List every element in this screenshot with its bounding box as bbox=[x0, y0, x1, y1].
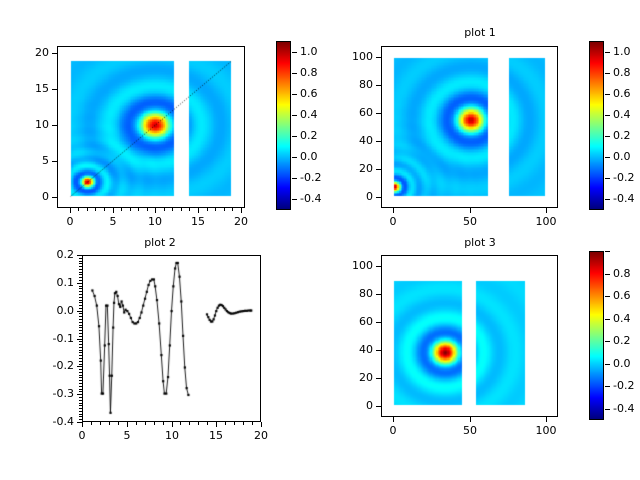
colorbar-tick bbox=[605, 199, 610, 200]
figure-canvas: 0510152005101520 1.00.80.60.40.20.0-0.2-… bbox=[0, 0, 640, 480]
y-tick-label: 40 bbox=[331, 343, 373, 356]
y-tick-label: 0 bbox=[331, 399, 373, 412]
tick-mark bbox=[180, 422, 181, 425]
panel-top-right-plotarea bbox=[382, 47, 557, 207]
y-tick-label: -0.3 bbox=[30, 387, 74, 400]
colorbar-tick bbox=[605, 296, 610, 297]
tick-mark bbox=[234, 422, 235, 425]
x-tick-label: 15 bbox=[178, 215, 218, 228]
tick-mark bbox=[393, 417, 394, 422]
panel-bottom-right-colorbar bbox=[589, 251, 604, 420]
tick-mark bbox=[216, 422, 217, 427]
tick-mark bbox=[79, 377, 82, 378]
colorbar-tick bbox=[605, 178, 610, 179]
tick-mark bbox=[52, 53, 57, 54]
tick-mark bbox=[79, 325, 82, 326]
panel-top-right-heatmap bbox=[382, 47, 557, 207]
tick-mark bbox=[79, 344, 82, 345]
colorbar-tick bbox=[292, 115, 297, 116]
tick-mark bbox=[376, 57, 381, 58]
colorbar-tick-label: 1.0 bbox=[613, 45, 631, 58]
x-tick-label: 5 bbox=[93, 215, 133, 228]
y-tick-label: 80 bbox=[331, 287, 373, 300]
tick-mark bbox=[79, 350, 82, 351]
y-tick-label: 5 bbox=[7, 154, 49, 167]
tick-mark bbox=[79, 411, 82, 412]
tick-mark bbox=[79, 302, 82, 303]
tick-mark bbox=[224, 208, 225, 211]
x-tick-label: 100 bbox=[526, 215, 566, 228]
x-tick-label: 20 bbox=[221, 215, 261, 228]
tick-mark bbox=[138, 208, 139, 211]
tick-mark bbox=[79, 403, 82, 404]
tick-mark bbox=[70, 208, 71, 213]
colorbar-tick bbox=[605, 136, 610, 137]
tick-mark bbox=[243, 422, 244, 425]
y-tick-label: 20 bbox=[331, 371, 373, 384]
tick-mark bbox=[87, 208, 88, 211]
panel-bottom-right-axes bbox=[381, 255, 558, 417]
panel-bottom-left-axes bbox=[82, 255, 261, 422]
tick-mark bbox=[77, 422, 82, 423]
tick-mark bbox=[95, 208, 96, 211]
tick-mark bbox=[79, 297, 82, 298]
colorbar-tick-label: 0.0 bbox=[613, 150, 631, 163]
colorbar-tick-label: 0.0 bbox=[613, 357, 631, 370]
tick-mark bbox=[52, 197, 57, 198]
tick-mark bbox=[189, 422, 190, 425]
colorbar-tick-label: -0.4 bbox=[300, 192, 321, 205]
tick-mark bbox=[79, 358, 82, 359]
tick-mark bbox=[52, 89, 57, 90]
panel-top-left: 0510152005101520 1.00.80.60.40.20.0-0.2-… bbox=[0, 0, 320, 240]
colorbar-tick-label: 0.8 bbox=[300, 66, 318, 79]
colorbar-tick-label: 1.0 bbox=[300, 45, 318, 58]
x-tick-label: 0 bbox=[373, 424, 413, 437]
y-tick-label: 100 bbox=[331, 259, 373, 272]
tick-mark bbox=[79, 386, 82, 387]
tick-mark bbox=[172, 208, 173, 211]
tick-mark bbox=[155, 208, 156, 213]
tick-mark bbox=[79, 258, 82, 259]
tick-mark bbox=[79, 280, 82, 281]
x-tick-label: 0 bbox=[50, 215, 90, 228]
tick-mark bbox=[77, 311, 82, 312]
panel-bottom-right: plot 3 050100020406080100 0.80.60.40.20.… bbox=[320, 240, 640, 480]
tick-mark bbox=[172, 422, 173, 427]
tick-mark bbox=[154, 422, 155, 425]
tick-mark bbox=[79, 286, 82, 287]
tick-mark bbox=[79, 272, 82, 273]
x-tick-label: 50 bbox=[450, 424, 490, 437]
tick-mark bbox=[79, 389, 82, 390]
colorbar-tick-label: 0.6 bbox=[613, 87, 631, 100]
tick-mark bbox=[79, 347, 82, 348]
tick-mark bbox=[77, 255, 82, 256]
tick-mark bbox=[77, 366, 82, 367]
tick-mark bbox=[376, 350, 381, 351]
x-tick-label: 0 bbox=[62, 429, 102, 442]
tick-mark bbox=[376, 197, 381, 198]
tick-mark bbox=[79, 319, 82, 320]
colorbar-tick-label: 0.8 bbox=[613, 66, 631, 79]
x-tick-label: 0 bbox=[373, 215, 413, 228]
panel-bottom-left-line-series bbox=[83, 256, 260, 421]
tick-mark bbox=[79, 277, 82, 278]
colorbar-tick bbox=[605, 115, 610, 116]
tick-mark bbox=[376, 378, 381, 379]
y-tick-label: 0.2 bbox=[30, 248, 74, 261]
x-tick-label: 50 bbox=[450, 215, 490, 228]
x-tick-label: 10 bbox=[135, 215, 175, 228]
panel-bottom-left: plot 2 051015200.20.10.0-0.1-0.2-0.3-0.4 bbox=[0, 240, 320, 480]
tick-mark bbox=[207, 422, 208, 425]
y-tick-label: -0.2 bbox=[30, 359, 74, 372]
colorbar-tick-label: 0.6 bbox=[300, 87, 318, 100]
tick-mark bbox=[79, 400, 82, 401]
y-tick-label: 0 bbox=[331, 190, 373, 203]
tick-mark bbox=[127, 422, 128, 427]
tick-mark bbox=[198, 422, 199, 425]
colorbar-tick bbox=[605, 94, 610, 95]
tick-mark bbox=[241, 208, 242, 213]
tick-mark bbox=[376, 322, 381, 323]
tick-mark bbox=[376, 169, 381, 170]
colorbar-tick-label: -0.4 bbox=[613, 402, 634, 415]
tick-mark bbox=[376, 85, 381, 86]
tick-mark bbox=[77, 339, 82, 340]
tick-mark bbox=[79, 361, 82, 362]
colorbar-tick bbox=[605, 157, 610, 158]
colorbar-tick bbox=[292, 73, 297, 74]
panel-bottom-right-plotarea bbox=[382, 256, 557, 416]
tick-mark bbox=[52, 161, 57, 162]
tick-mark bbox=[79, 327, 82, 328]
colorbar-tick bbox=[605, 274, 610, 275]
panel-top-left-heatmap bbox=[58, 47, 244, 207]
tick-mark bbox=[79, 330, 82, 331]
tick-mark bbox=[79, 294, 82, 295]
tick-mark bbox=[118, 422, 119, 425]
tick-mark bbox=[225, 422, 226, 425]
colorbar-tick bbox=[292, 199, 297, 200]
y-tick-label: 0.1 bbox=[30, 276, 74, 289]
colorbar-tick-label: 0.2 bbox=[613, 334, 631, 347]
tick-mark bbox=[79, 291, 82, 292]
tick-mark bbox=[136, 422, 137, 425]
colorbar-tick-label: 0.4 bbox=[613, 108, 631, 121]
x-tick-label: 5 bbox=[107, 429, 147, 442]
colorbar-tick bbox=[292, 52, 297, 53]
tick-mark bbox=[79, 383, 82, 384]
tick-mark bbox=[78, 208, 79, 211]
colorbar-tick-label: -0.2 bbox=[613, 171, 634, 184]
panel-top-left-colorbar bbox=[276, 41, 291, 210]
colorbar-tick-label: -0.4 bbox=[613, 192, 634, 205]
y-tick-label: 60 bbox=[331, 315, 373, 328]
colorbar-tick bbox=[605, 409, 610, 410]
tick-mark bbox=[79, 372, 82, 373]
colorbar-tick-label: 0.4 bbox=[613, 312, 631, 325]
tick-mark bbox=[109, 422, 110, 425]
colorbar-tick-label: 0.2 bbox=[300, 129, 318, 142]
y-tick-label: 10 bbox=[7, 118, 49, 131]
panel-top-right-colorbar bbox=[589, 41, 604, 210]
tick-mark bbox=[104, 208, 105, 211]
tick-mark bbox=[100, 422, 101, 425]
tick-mark bbox=[198, 208, 199, 213]
tick-mark bbox=[79, 263, 82, 264]
y-tick-label: -0.1 bbox=[30, 332, 74, 345]
panel-top-right: plot 1 050100020406080100 1.00.80.60.40.… bbox=[320, 0, 640, 240]
tick-mark bbox=[79, 336, 82, 337]
tick-mark bbox=[79, 364, 82, 365]
tick-mark bbox=[82, 422, 83, 427]
tick-mark bbox=[79, 405, 82, 406]
tick-mark bbox=[79, 316, 82, 317]
tick-mark bbox=[376, 113, 381, 114]
tick-mark bbox=[470, 417, 471, 422]
x-tick-label: 100 bbox=[526, 424, 566, 437]
colorbar-tick bbox=[605, 386, 610, 387]
tick-mark bbox=[79, 308, 82, 309]
y-tick-label: 0.0 bbox=[30, 304, 74, 317]
panel-bottom-right-heatmap bbox=[382, 256, 557, 416]
tick-mark bbox=[79, 333, 82, 334]
x-tick-label: 20 bbox=[241, 429, 281, 442]
panel-top-right-axes bbox=[381, 46, 558, 208]
tick-mark bbox=[79, 274, 82, 275]
colorbar-tick bbox=[292, 178, 297, 179]
colorbar-tick bbox=[605, 319, 610, 320]
tick-mark bbox=[145, 422, 146, 425]
tick-mark bbox=[79, 305, 82, 306]
tick-mark bbox=[207, 208, 208, 211]
tick-mark bbox=[77, 394, 82, 395]
y-tick-label: 0 bbox=[7, 190, 49, 203]
x-tick-label: 15 bbox=[196, 429, 236, 442]
tick-mark bbox=[79, 352, 82, 353]
panel-top-right-title: plot 1 bbox=[320, 26, 640, 39]
tick-mark bbox=[79, 341, 82, 342]
tick-mark bbox=[470, 208, 471, 213]
tick-mark bbox=[189, 208, 190, 211]
tick-mark bbox=[79, 391, 82, 392]
tick-mark bbox=[376, 266, 381, 267]
tick-mark bbox=[79, 375, 82, 376]
tick-mark bbox=[130, 208, 131, 211]
y-tick-label: -0.4 bbox=[30, 415, 74, 428]
y-tick-label: 100 bbox=[331, 50, 373, 63]
tick-mark bbox=[546, 208, 547, 213]
tick-mark bbox=[121, 208, 122, 211]
tick-mark bbox=[79, 414, 82, 415]
colorbar-tick bbox=[605, 364, 610, 365]
panel-top-left-axes bbox=[57, 46, 245, 208]
tick-mark bbox=[147, 208, 148, 211]
colorbar-tick bbox=[292, 157, 297, 158]
tick-mark bbox=[91, 422, 92, 425]
tick-mark bbox=[79, 288, 82, 289]
colorbar-tick-label: 0.0 bbox=[300, 150, 318, 163]
y-tick-label: 60 bbox=[331, 106, 373, 119]
y-tick-label: 40 bbox=[331, 134, 373, 147]
colorbar-tick bbox=[605, 341, 610, 342]
tick-mark bbox=[79, 408, 82, 409]
tick-mark bbox=[79, 380, 82, 381]
panel-bottom-right-title: plot 3 bbox=[320, 236, 640, 249]
tick-mark bbox=[79, 416, 82, 417]
colorbar-tick-label: -0.2 bbox=[613, 379, 634, 392]
tick-mark bbox=[79, 397, 82, 398]
tick-mark bbox=[376, 406, 381, 407]
tick-mark bbox=[376, 294, 381, 295]
tick-mark bbox=[232, 208, 233, 211]
tick-mark bbox=[215, 208, 216, 211]
tick-mark bbox=[261, 422, 262, 427]
colorbar-tick bbox=[605, 251, 610, 252]
tick-mark bbox=[79, 261, 82, 262]
tick-mark bbox=[79, 419, 82, 420]
tick-mark bbox=[376, 141, 381, 142]
tick-mark bbox=[546, 417, 547, 422]
tick-mark bbox=[79, 269, 82, 270]
tick-mark bbox=[113, 208, 114, 213]
tick-mark bbox=[79, 355, 82, 356]
tick-mark bbox=[252, 422, 253, 425]
colorbar-tick-label: -0.2 bbox=[300, 171, 321, 184]
y-tick-label: 80 bbox=[331, 78, 373, 91]
y-tick-label: 15 bbox=[7, 82, 49, 95]
colorbar-tick-label: 0.4 bbox=[300, 108, 318, 121]
tick-mark bbox=[393, 208, 394, 213]
tick-mark bbox=[164, 208, 165, 211]
y-tick-label: 20 bbox=[331, 162, 373, 175]
colorbar-tick-label: 0.2 bbox=[613, 129, 631, 142]
tick-mark bbox=[77, 283, 82, 284]
tick-mark bbox=[79, 313, 82, 314]
tick-mark bbox=[79, 369, 82, 370]
tick-mark bbox=[52, 125, 57, 126]
colorbar-tick bbox=[605, 73, 610, 74]
tick-mark bbox=[79, 322, 82, 323]
tick-mark bbox=[163, 422, 164, 425]
y-tick-label: 20 bbox=[7, 46, 49, 59]
tick-mark bbox=[181, 208, 182, 211]
tick-mark bbox=[79, 300, 82, 301]
panel-top-left-plotarea bbox=[58, 47, 244, 207]
colorbar-tick-label: 0.6 bbox=[613, 289, 631, 302]
x-tick-label: 10 bbox=[152, 429, 192, 442]
colorbar-tick bbox=[605, 52, 610, 53]
colorbar-tick bbox=[292, 136, 297, 137]
tick-mark bbox=[79, 266, 82, 267]
colorbar-tick bbox=[292, 94, 297, 95]
colorbar-tick-label: 0.8 bbox=[613, 267, 631, 280]
